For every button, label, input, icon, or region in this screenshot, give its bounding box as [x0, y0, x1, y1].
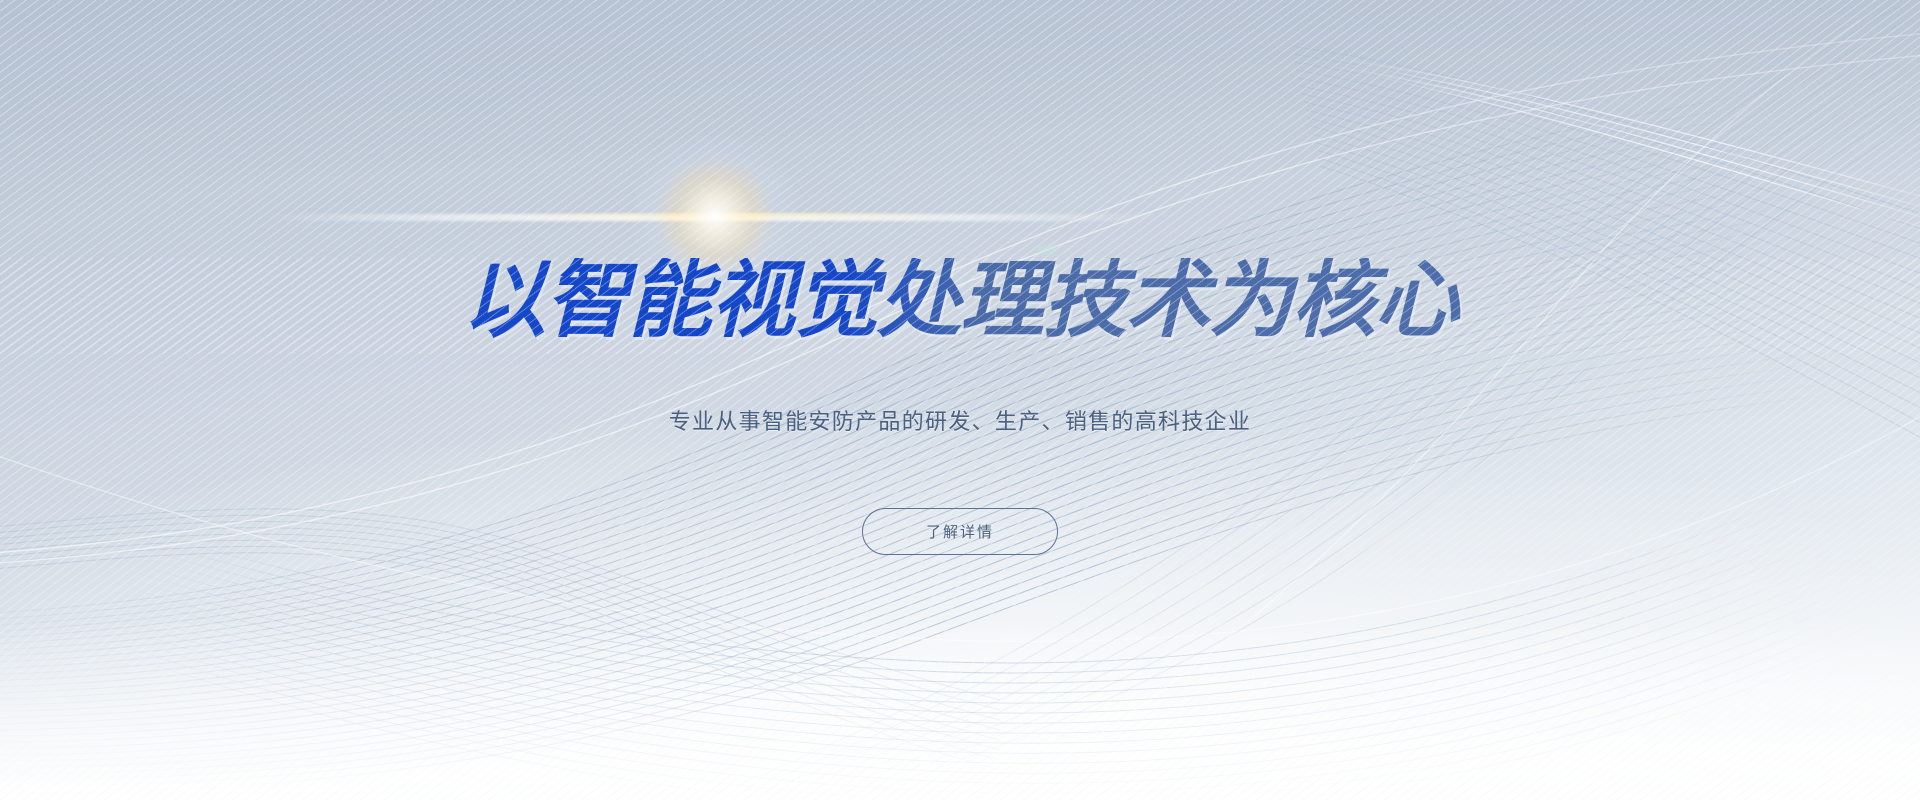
banner-subtitle: 专业从事智能安防产品的研发、生产、销售的高科技企业 — [0, 408, 1920, 439]
learn-more-button[interactable]: 了解详情 — [862, 508, 1058, 555]
banner-content: 以智能视觉处理技术为核心 专业从事智能安防产品的研发、生产、销售的高科技企业 了… — [0, 0, 1920, 800]
cta-container: 了解详情 — [0, 508, 1920, 555]
hero-banner: 以智能视觉处理技术为核心 专业从事智能安防产品的研发、生产、销售的高科技企业 了… — [0, 0, 1920, 800]
page-title: 以智能视觉处理技术为核心 — [0, 258, 1920, 342]
